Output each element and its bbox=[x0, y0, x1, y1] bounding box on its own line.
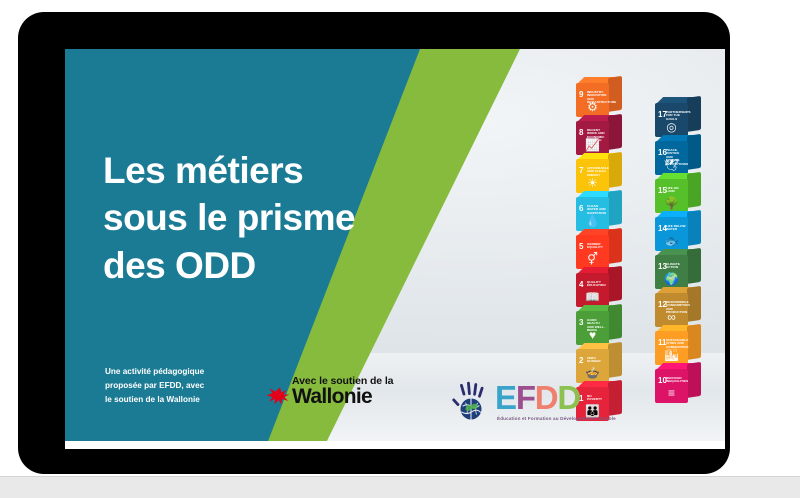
cube-face-front: 7AFFORDABLE AND CLEAN ENERGY☀ bbox=[576, 159, 609, 193]
cube-face-side bbox=[608, 342, 622, 378]
sdg-cube-9: 9INDUSTRY, INNOVATION AND INFRASTRUCTURE… bbox=[576, 77, 622, 117]
sdg-cube-12: 12RESPONSIBLE CONSUMPTION AND PRODUCTION… bbox=[655, 287, 701, 327]
sdg-number: 8 bbox=[579, 129, 583, 137]
sdg-label: CLIMATE ACTION bbox=[666, 263, 686, 270]
cube-face-side bbox=[608, 190, 622, 226]
page-bottom-strip bbox=[0, 476, 800, 498]
screenshot-root: 9INDUSTRY, INNOVATION AND INFRASTRUCTURE… bbox=[0, 0, 800, 498]
sdg-cube-5: 5GENDER EQUALITY⚥ bbox=[576, 229, 622, 269]
efdd-letter-1: E bbox=[495, 379, 516, 416]
wallonie-wordmark: Wallonie bbox=[292, 387, 372, 407]
efdd-letter-3: D bbox=[535, 379, 558, 416]
sdg-cube-3: 3GOOD HEALTH AND WELL-BEING♥ bbox=[576, 305, 622, 345]
cube-face-front: 13CLIMATE ACTION🌍 bbox=[655, 255, 688, 289]
efdd-letter-4: D bbox=[557, 379, 580, 416]
sdg-glyph-icon: ☀ bbox=[581, 176, 604, 191]
sdg-cube-14: 14LIFE BELOW WATER🐟 bbox=[655, 211, 701, 251]
cube-face-side bbox=[687, 134, 701, 170]
sdg-cube-stack-left: 9INDUSTRY, INNOVATION AND INFRASTRUCTURE… bbox=[576, 77, 622, 419]
sdg-cube-17: 17PARTNERSHIPS FOR THE GOALS◎ bbox=[655, 97, 701, 137]
cube-face-front: 4QUALITY EDUCATION📖 bbox=[576, 273, 609, 307]
sdg-glyph-icon: 🏙 bbox=[660, 348, 683, 363]
wallonie-logo: Avec le soutien de la Wallonie bbox=[265, 375, 415, 407]
sdg-glyph-icon: 🌳 bbox=[660, 196, 683, 211]
sdg-label: LIFE BELOW WATER bbox=[666, 225, 686, 232]
efdd-tagline: Éducation et Formation au Développement … bbox=[497, 416, 616, 421]
cube-face-front: 14LIFE BELOW WATER🐟 bbox=[655, 217, 688, 251]
sdg-label: REDUCED INEQUALITIES bbox=[666, 377, 686, 384]
sdg-glyph-icon: ♥ bbox=[581, 328, 604, 343]
page-title: Les métiers sous le prisme des ODD bbox=[103, 147, 403, 289]
sdg-label: ZERO HUNGER bbox=[587, 357, 607, 364]
cube-face-front: 10REDUCED INEQUALITIES≡ bbox=[655, 369, 688, 403]
rooster-icon bbox=[265, 386, 291, 406]
sdg-label: LIFE ON LAND bbox=[666, 187, 686, 194]
sdg-glyph-icon: 📈 bbox=[581, 138, 604, 153]
efdd-letter-2: F bbox=[516, 379, 535, 416]
sdg-cube-15: 15LIFE ON LAND🌳 bbox=[655, 173, 701, 213]
cube-face-front: 9INDUSTRY, INNOVATION AND INFRASTRUCTURE… bbox=[576, 83, 609, 117]
cube-face-front: 16PEACE, JUSTICE AND STRONG INSTITUTIONS… bbox=[655, 141, 688, 175]
cube-face-side bbox=[687, 172, 701, 208]
cube-face-front: 8DECENT WORK AND ECONOMIC GROWTH📈 bbox=[576, 121, 609, 155]
device-screen: 9INDUSTRY, INNOVATION AND INFRASTRUCTURE… bbox=[65, 49, 725, 449]
sdg-cube-4: 4QUALITY EDUCATION📖 bbox=[576, 267, 622, 307]
sdg-cube-6: 6CLEAN WATER AND SANITATION💧 bbox=[576, 191, 622, 231]
cube-face-side bbox=[687, 324, 701, 360]
cube-face-side bbox=[608, 228, 622, 264]
sdg-cube-10: 10REDUCED INEQUALITIES≡ bbox=[655, 363, 701, 403]
sdg-label: GENDER EQUALITY bbox=[587, 243, 607, 250]
laptop-device-frame: 9INDUSTRY, INNOVATION AND INFRASTRUCTURE… bbox=[18, 12, 730, 474]
sdg-cube-16: 16PEACE, JUSTICE AND STRONG INSTITUTIONS… bbox=[655, 135, 701, 175]
efdd-wordmark: EFDD bbox=[495, 383, 616, 413]
sdg-cube-11: 11SUSTAINABLE CITIES AND COMMUNITIES🏙 bbox=[655, 325, 701, 365]
sdg-cube-stack-right: 17PARTNERSHIPS FOR THE GOALS◎16PEACE, JU… bbox=[655, 97, 701, 401]
cube-face-side bbox=[608, 114, 622, 150]
cube-face-side bbox=[687, 210, 701, 246]
cube-face-front: 11SUSTAINABLE CITIES AND COMMUNITIES🏙 bbox=[655, 331, 688, 365]
sdg-glyph-icon: 🌍 bbox=[660, 272, 683, 287]
sdg-glyph-icon: 🐟 bbox=[660, 234, 683, 249]
sdg-glyph-icon: 🕊 bbox=[660, 158, 683, 173]
sdg-cube-7: 7AFFORDABLE AND CLEAN ENERGY☀ bbox=[576, 153, 622, 193]
footer-credit-text: Une activité pédagogique proposée par EF… bbox=[105, 365, 245, 407]
presentation-slide[interactable]: 9INDUSTRY, INNOVATION AND INFRASTRUCTURE… bbox=[65, 49, 725, 449]
sdg-glyph-icon: ≡ bbox=[660, 386, 683, 401]
cube-face-side bbox=[608, 76, 622, 112]
sdg-glyph-icon: 📖 bbox=[581, 290, 604, 305]
sdg-number: 4 bbox=[579, 281, 583, 289]
hand-globe-icon bbox=[450, 381, 492, 423]
sdg-glyph-icon: ∞ bbox=[660, 310, 683, 325]
cube-face-side bbox=[687, 248, 701, 284]
sdg-glyph-icon: ◎ bbox=[660, 120, 683, 135]
sdg-number: 2 bbox=[579, 357, 583, 365]
cube-face-side bbox=[608, 266, 622, 302]
cube-face-side bbox=[608, 152, 622, 188]
cube-face-front: 15LIFE ON LAND🌳 bbox=[655, 179, 688, 213]
cube-face-front: 17PARTNERSHIPS FOR THE GOALS◎ bbox=[655, 103, 688, 137]
cube-face-front: 3GOOD HEALTH AND WELL-BEING♥ bbox=[576, 311, 609, 345]
efdd-text-block: EFDD Éducation et Formation au Développe… bbox=[495, 383, 616, 420]
sdg-number: 7 bbox=[579, 167, 583, 175]
sdg-number: 9 bbox=[579, 91, 583, 99]
sdg-glyph-icon: ⚙ bbox=[581, 100, 604, 115]
sdg-glyph-icon: ⚥ bbox=[581, 252, 604, 267]
cube-face-front: 2ZERO HUNGER🍲 bbox=[576, 349, 609, 383]
cube-face-side bbox=[687, 362, 701, 398]
efdd-logo: EFDD Éducation et Formation au Développe… bbox=[450, 381, 616, 423]
cube-face-front: 6CLEAN WATER AND SANITATION💧 bbox=[576, 197, 609, 231]
sdg-number: 3 bbox=[579, 319, 583, 327]
sdg-cube-13: 13CLIMATE ACTION🌍 bbox=[655, 249, 701, 289]
sdg-glyph-icon: 💧 bbox=[581, 214, 604, 229]
sdg-label: QUALITY EDUCATION bbox=[587, 281, 607, 288]
sdg-cube-8: 8DECENT WORK AND ECONOMIC GROWTH📈 bbox=[576, 115, 622, 155]
cube-face-side bbox=[608, 304, 622, 340]
cube-face-front: 5GENDER EQUALITY⚥ bbox=[576, 235, 609, 269]
sdg-cube-2: 2ZERO HUNGER🍲 bbox=[576, 343, 622, 383]
slide-bottom-white-band bbox=[65, 441, 725, 449]
sdg-glyph-icon: 🍲 bbox=[581, 366, 604, 381]
cube-face-front: 12RESPONSIBLE CONSUMPTION AND PRODUCTION… bbox=[655, 293, 688, 327]
sdg-number: 5 bbox=[579, 243, 583, 251]
sdg-number: 6 bbox=[579, 205, 583, 213]
